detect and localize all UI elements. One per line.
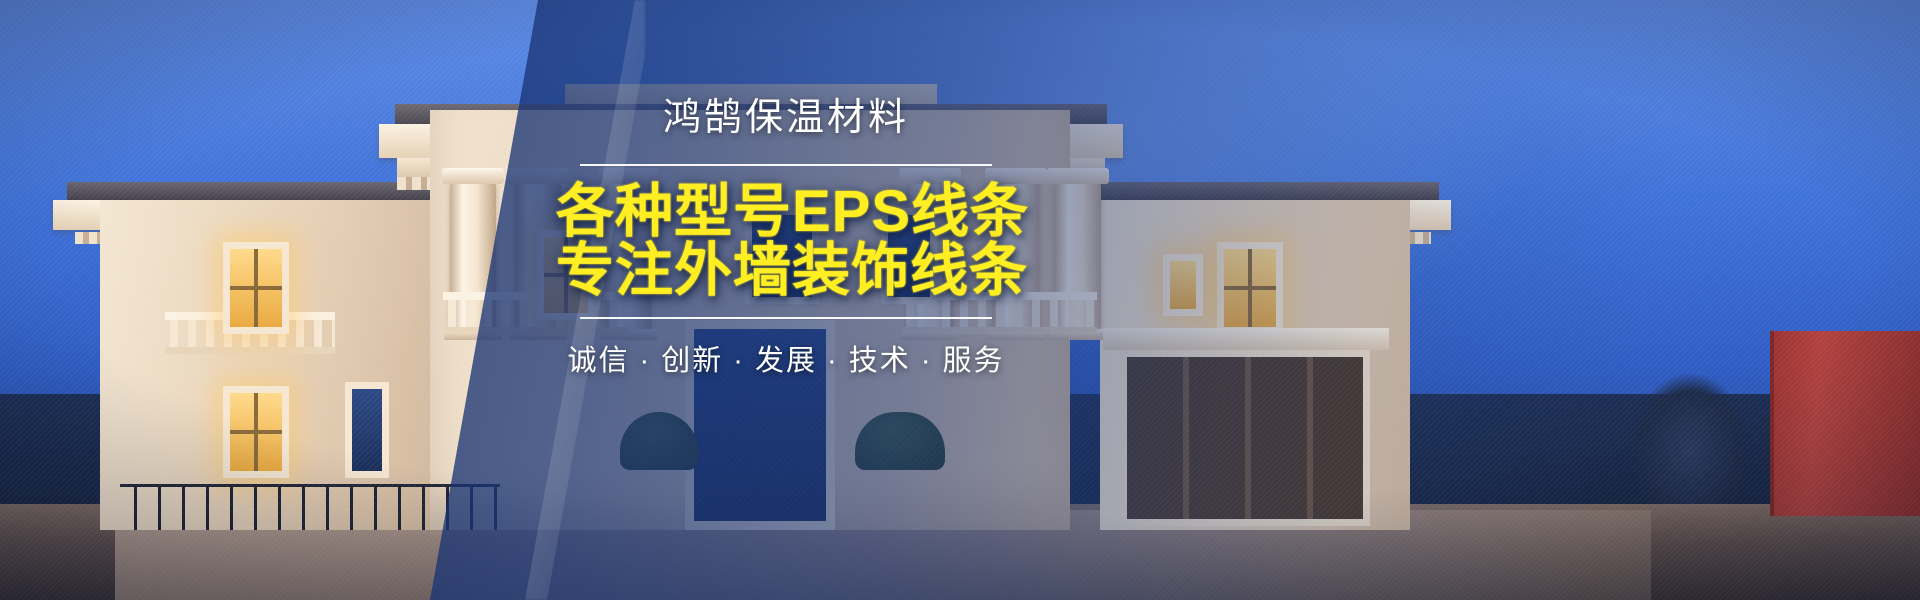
window-dark [345,382,389,478]
window-glowing [223,242,289,334]
headline-line-1: 各种型号EPS线条 [556,179,1029,244]
headline-line-2: 专注外墙装饰线条 [556,241,1016,301]
hero-banner: 鸿鹄保温材料 各种型号EPS线条 专注外墙装饰线条 诚信 · 创新 · 发展 ·… [0,0,1920,600]
company-name: 鸿鹄保温材料 [556,96,1016,142]
banner-text-block: 鸿鹄保温材料 各种型号EPS线条 专注外墙装饰线条 诚信 · 创新 · 发展 ·… [556,96,1016,379]
headline: 各种型号EPS线条 专注外墙装饰线条 [556,182,1016,301]
iron-fence [120,484,500,530]
tagline: 诚信 · 创新 · 发展 · 技术 · 服务 [556,337,1016,379]
divider-top [580,164,992,166]
window-mullion [230,393,282,471]
window-glowing [223,386,289,478]
divider-bottom [580,317,992,319]
window-mullion [230,249,282,327]
